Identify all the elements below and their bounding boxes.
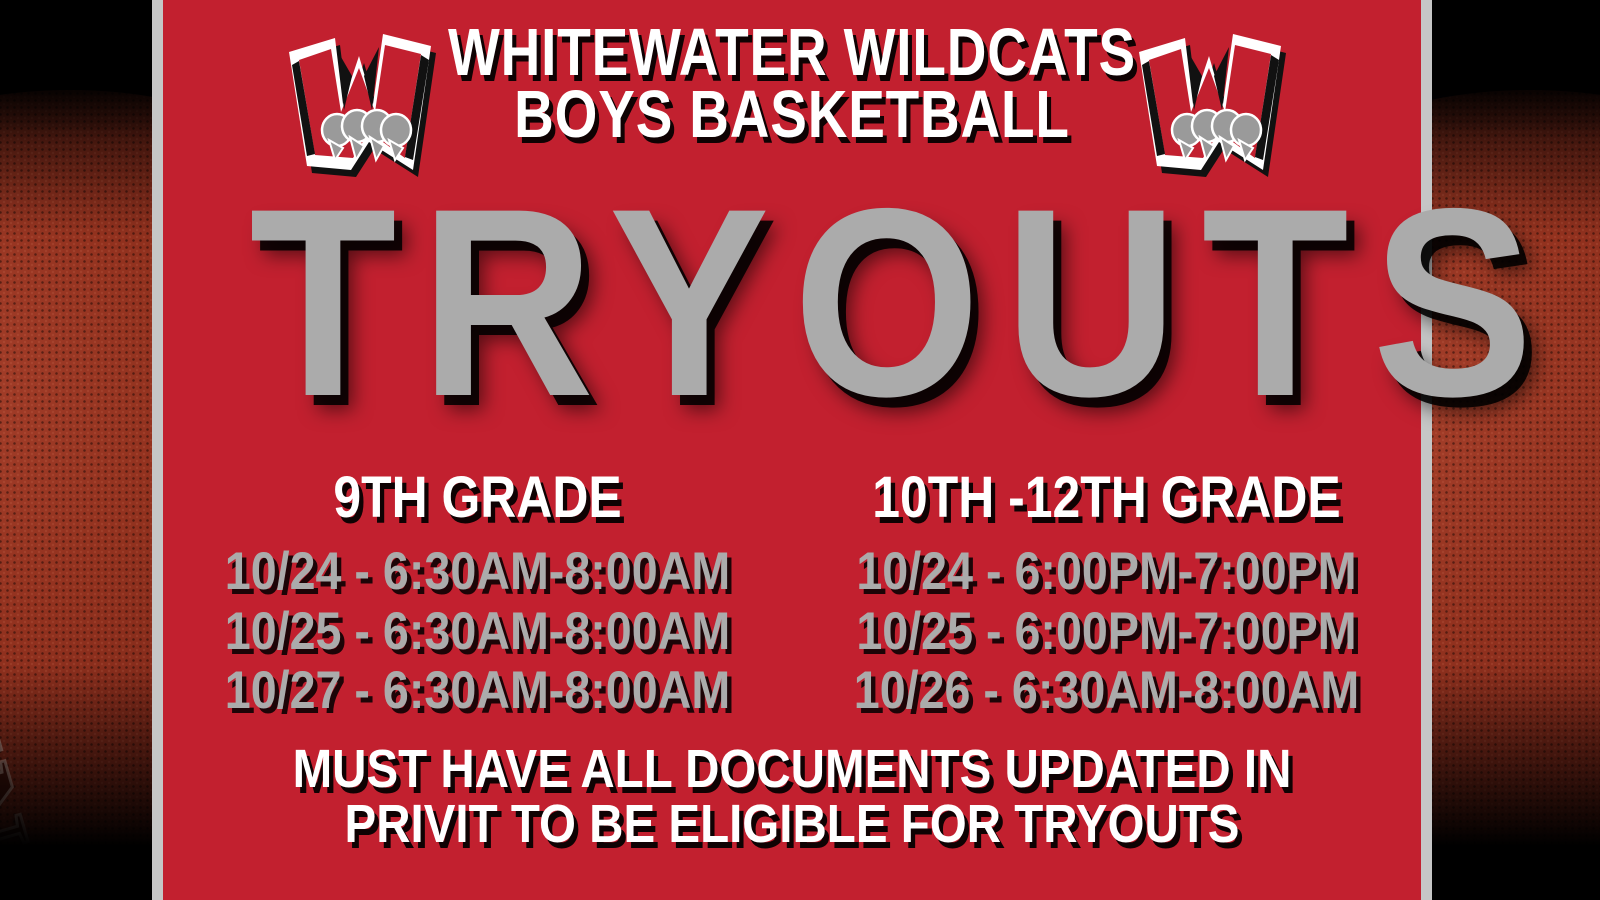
red-panel: WHITEWATER WILDCATS BOYS BASKETBALL — [163, 0, 1421, 900]
photo-vignette — [0, 0, 156, 900]
column-rows: 10/24 - 6:30AM-8:00AM 10/25 - 6:30AM-8:0… — [163, 542, 792, 720]
background-photo-left: SPALDING — [0, 0, 156, 900]
headline-tryouts: TRYOUTS — [226, 168, 1358, 436]
schedule-row: 10/25 - 6:30AM-8:00AM — [201, 602, 755, 661]
column-heading: 10TH -12TH GRADE — [836, 468, 1377, 528]
schedule-row: 10/25 - 6:00PM-7:00PM — [830, 602, 1384, 661]
header: WHITEWATER WILDCATS BOYS BASKETBALL — [163, 14, 1421, 174]
tryouts-flyer: SPALDING SPALDING — [0, 0, 1600, 900]
schedule-row: 10/26 - 6:30AM-8:00AM — [830, 661, 1384, 720]
schedule-column-10th-12th: 10TH -12TH GRADE 10/24 - 6:00PM-7:00PM 1… — [792, 468, 1421, 720]
schedule-row: 10/24 - 6:00PM-7:00PM — [830, 542, 1384, 601]
column-heading: 9TH GRADE — [207, 468, 748, 528]
eligibility-line-1: MUST HAVE ALL DOCUMENTS UPDATED IN — [238, 742, 1345, 797]
schedule-column-9th: 9TH GRADE 10/24 - 6:30AM-8:00AM 10/25 - … — [163, 468, 792, 720]
eligibility-line-2: PRIVIT TO BE ELIGIBLE FOR TRYOUTS — [238, 797, 1345, 852]
column-rows: 10/24 - 6:00PM-7:00PM 10/25 - 6:00PM-7:0… — [792, 542, 1421, 720]
schedule-columns: 9TH GRADE 10/24 - 6:30AM-8:00AM 10/25 - … — [163, 468, 1421, 720]
divider-left — [152, 0, 163, 900]
eligibility-note: MUST HAVE ALL DOCUMENTS UPDATED IN PRIVI… — [163, 742, 1421, 852]
schedule-row: 10/24 - 6:30AM-8:00AM — [201, 542, 755, 601]
schedule-row: 10/27 - 6:30AM-8:00AM — [201, 661, 755, 720]
